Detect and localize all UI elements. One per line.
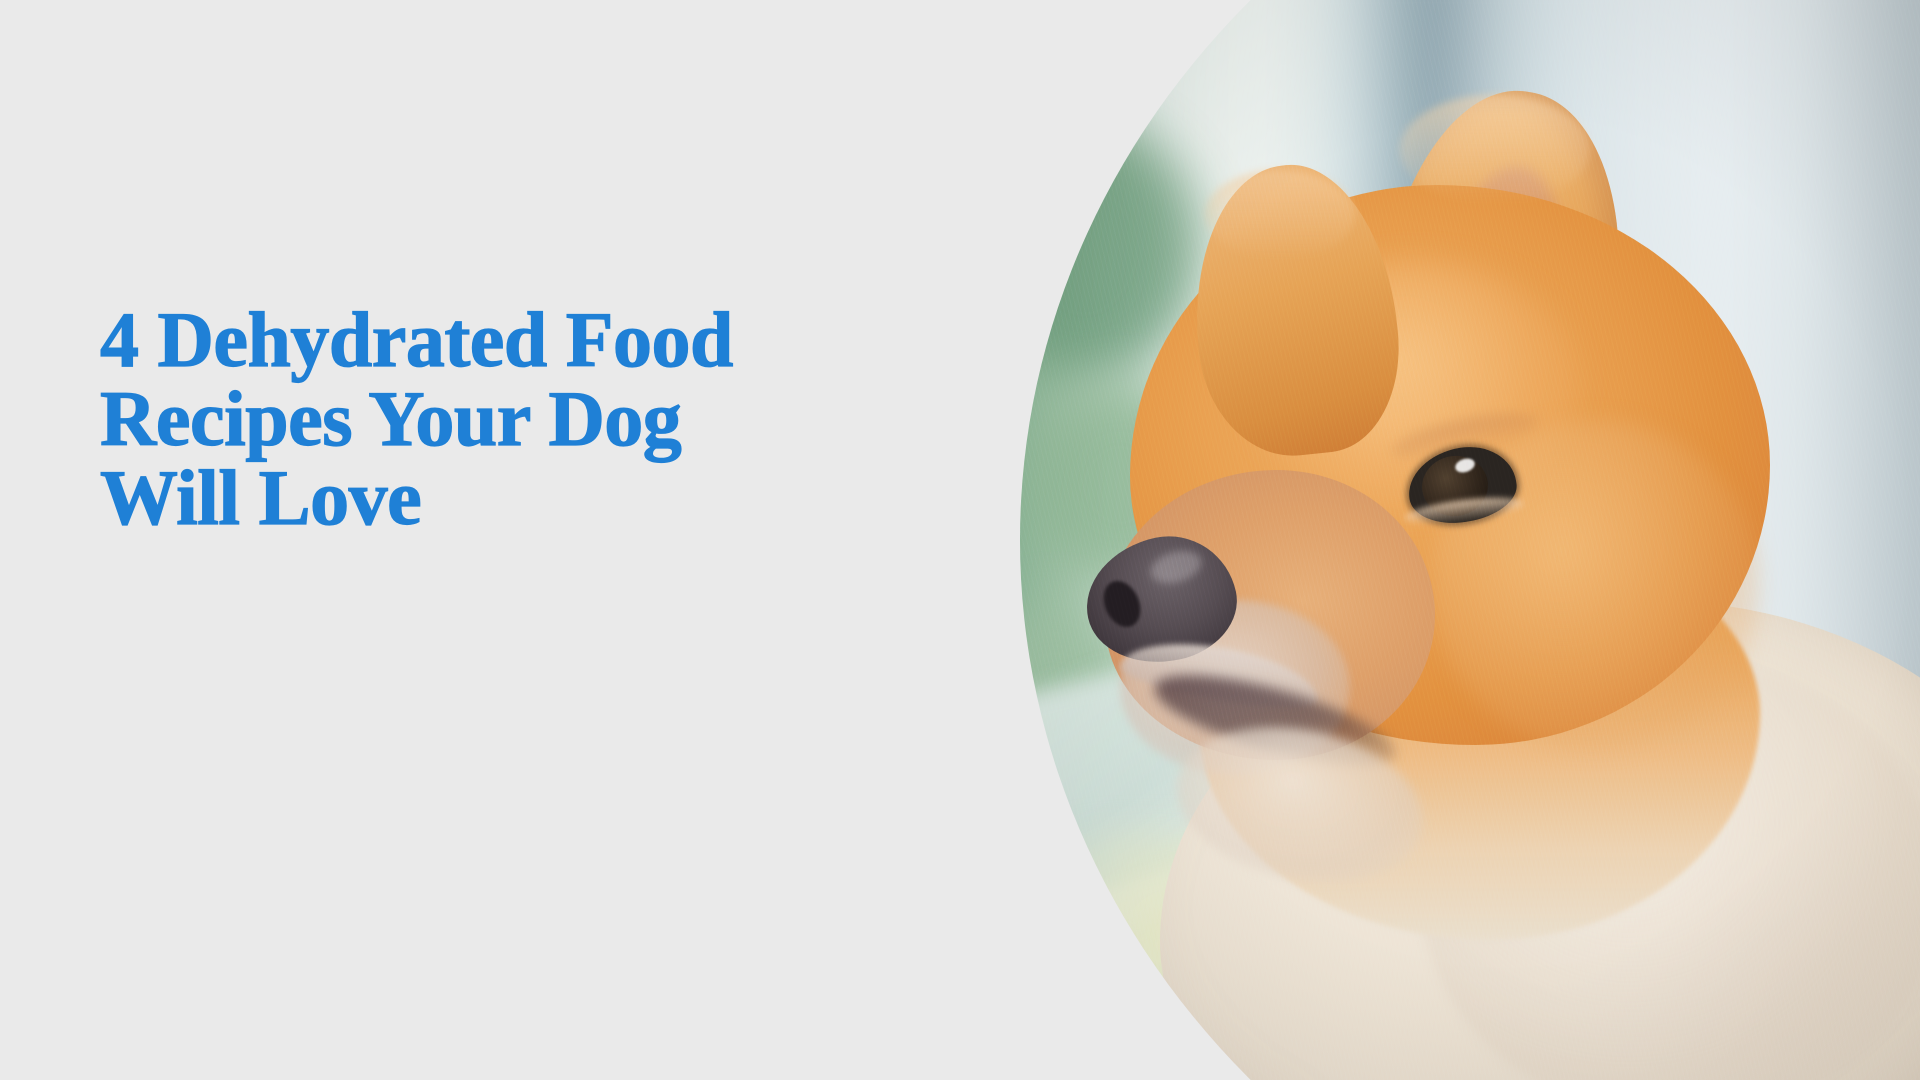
page-title: 4 Dehydrated Food Recipes Your Dog Will … bbox=[100, 300, 860, 537]
headline-line-3: Will Love bbox=[100, 458, 860, 537]
hero-photo-panel bbox=[1000, 0, 1920, 1080]
dog-ear-fuzz bbox=[1400, 95, 1590, 205]
dog bbox=[1000, 0, 1920, 1080]
slide-canvas: 4 Dehydrated Food Recipes Your Dog Will … bbox=[0, 0, 1920, 1080]
dog-ear-fuzz bbox=[1205, 170, 1355, 260]
headline-line-2: Recipes Your Dog bbox=[100, 379, 860, 458]
dog-window-photo bbox=[1000, 0, 1920, 1080]
headline-line-1: 4 Dehydrated Food bbox=[100, 300, 860, 379]
